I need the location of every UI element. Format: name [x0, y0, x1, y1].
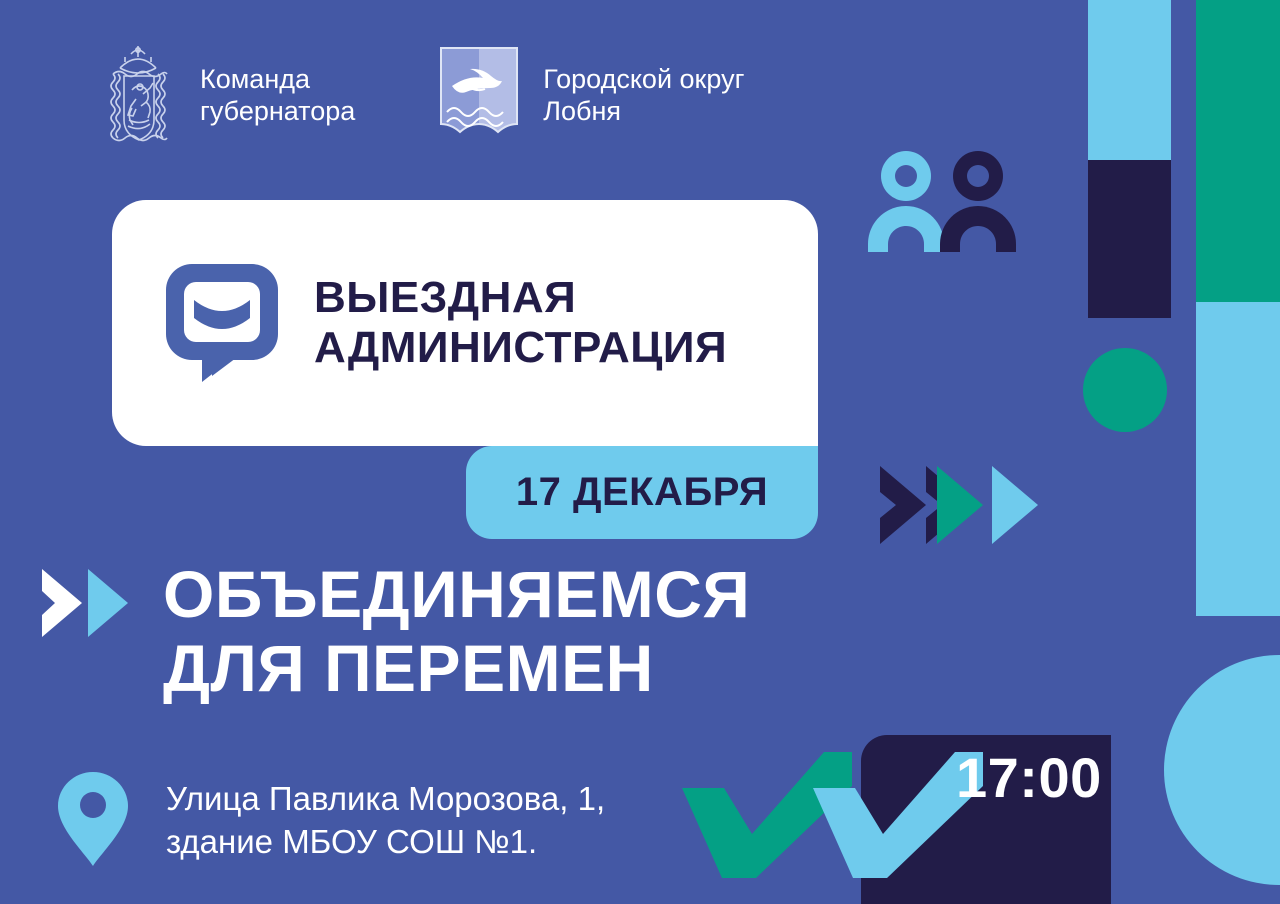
event-card: ВЫЕЗДНАЯ АДМИНИСТРАЦИЯ: [112, 200, 818, 446]
decor-bar-navy-top: [1088, 160, 1171, 318]
poster-canvas: 17:00: [0, 0, 1280, 904]
lobnya-coat-of-arms: [435, 44, 523, 148]
decor-bar-light-blue-top: [1088, 0, 1171, 160]
card-title: ВЫЕЗДНАЯ АДМИНИСТРАЦИЯ: [314, 273, 727, 373]
moscow-oblast-coat-of-arms: [96, 42, 180, 150]
gov-team-logo: Команда губернатора: [96, 42, 355, 150]
decor-circle-green: [1083, 348, 1167, 432]
decor-circle-light-blue: [1164, 655, 1280, 885]
date-text: 17 ДЕКАБРЯ: [516, 470, 768, 515]
double-chevron-right-icon: [42, 567, 154, 639]
decor-column-light-blue: [1196, 302, 1280, 616]
triple-chevron-right-icon: [880, 462, 1052, 548]
gov-team-label: Команда губернатора: [200, 64, 355, 128]
municipality-label: Городской округ Лобня: [543, 64, 744, 128]
date-badge: 17 ДЕКАБРЯ: [466, 446, 818, 539]
decor-column-green: [1196, 0, 1280, 302]
event-time: 17:00: [956, 750, 1102, 806]
two-people-icon: [866, 148, 1026, 252]
address-text: Улица Павлика Морозова, 1, здание МБОУ С…: [166, 772, 605, 864]
municipality-logo: Городской округ Лобня: [435, 44, 744, 148]
location-block: Улица Павлика Морозова, 1, здание МБОУ С…: [58, 772, 605, 866]
speech-bubble-smile-icon: [166, 264, 278, 382]
header-logos: Команда губернатора: [96, 42, 744, 150]
headline: ОБЪЕДИНЯЕМСЯ ДЛЯ ПЕРЕМЕН: [163, 558, 750, 706]
map-pin-icon: [58, 772, 128, 866]
